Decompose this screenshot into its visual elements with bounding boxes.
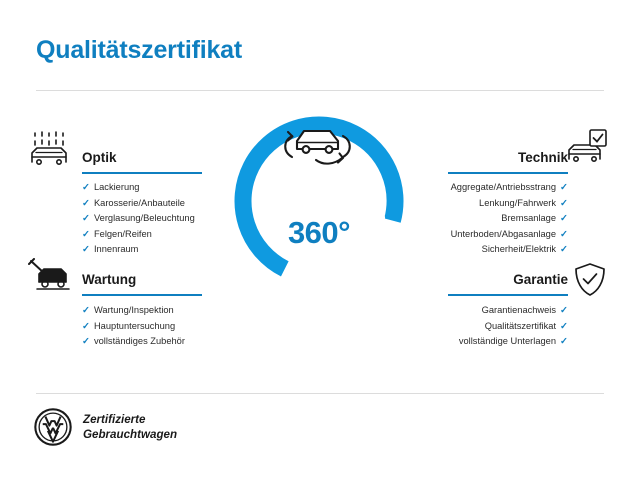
list-item: ✓Felgen/Reifen [82, 227, 195, 243]
check-icon: ✓ [82, 181, 90, 196]
list-item-label: Bremsanlage [501, 211, 556, 226]
list-item: Bremsanlage✓ [451, 211, 568, 227]
check-icon: ✓ [560, 304, 568, 319]
footer-brand-text: Zertifizierte Gebrauchtwagen [83, 412, 177, 442]
section-heading-garantie: Garantie [513, 272, 568, 287]
check-icon: ✓ [82, 228, 90, 243]
list-item-label: Felgen/Reifen [94, 227, 152, 242]
check-icon: ✓ [560, 212, 568, 227]
list-item-label: Verglasung/Beleuchtung [94, 211, 195, 226]
list-item: ✓Verglasung/Beleuchtung [82, 211, 195, 227]
certificate-page: Qualitätszertifikat Optik ✓Lackierung ✓K… [0, 0, 640, 480]
list-item: Aggregate/Antriebsstrang✓ [451, 180, 568, 196]
check-icon: ✓ [82, 304, 90, 319]
section-heading-technik: Technik [518, 150, 568, 165]
section-divider-garantie [448, 294, 568, 296]
check-icon: ✓ [560, 181, 568, 196]
check-icon: ✓ [82, 320, 90, 335]
list-item-label: Wartung/Inspektion [94, 303, 174, 318]
section-divider-technik [448, 172, 568, 174]
check-icon: ✓ [82, 197, 90, 212]
list-item-label: Garantienachweis [482, 303, 556, 318]
car-rotate-icon [280, 118, 358, 181]
list-item: Garantienachweis✓ [459, 303, 568, 319]
list-item-label: vollständiges Zubehör [94, 334, 185, 349]
list-item-label: vollständige Unterlagen [459, 334, 556, 349]
list-item: Sicherheit/Elektrik✓ [451, 242, 568, 258]
section-list-optik: ✓Lackierung ✓Karosserie/Anbauteile ✓Verg… [82, 180, 195, 258]
footer-line-1: Zertifizierte [83, 412, 177, 427]
list-item-label: Lenkung/Fahrwerk [479, 196, 556, 211]
section-heading-wartung: Wartung [82, 272, 136, 287]
title-divider [36, 90, 604, 91]
list-item-label: Sicherheit/Elektrik [482, 242, 556, 257]
check-icon: ✓ [560, 320, 568, 335]
list-item: ✓Karosserie/Anbauteile [82, 196, 195, 212]
check-icon: ✓ [82, 212, 90, 227]
check-badge: Gebrauchtwagen-Check 360° [228, 110, 410, 292]
badge-degrees: 360° [228, 215, 410, 251]
list-item-label: Unterboden/Abgasanlage [451, 227, 556, 242]
list-item: Qualitätszertifikat✓ [459, 319, 568, 335]
section-divider-wartung [82, 294, 202, 296]
list-item-label: Karosserie/Anbauteile [94, 196, 185, 211]
page-title: Qualitätszertifikat [36, 36, 242, 65]
section-list-garantie: Garantienachweis✓ Qualitätszertifikat✓ v… [459, 303, 568, 350]
section-heading-optik: Optik [82, 150, 117, 165]
vw-logo [34, 408, 72, 446]
car-wash-icon [30, 131, 72, 170]
check-icon: ✓ [560, 228, 568, 243]
list-item: ✓vollständiges Zubehör [82, 334, 185, 350]
list-item: Lenkung/Fahrwerk✓ [451, 196, 568, 212]
list-item: vollständige Unterlagen✓ [459, 334, 568, 350]
list-item: ✓Innenraum [82, 242, 195, 258]
list-item-label: Innenraum [94, 242, 138, 257]
shield-check-icon [574, 262, 606, 303]
section-list-wartung: ✓Wartung/Inspektion ✓Hauptuntersuchung ✓… [82, 303, 185, 350]
list-item: ✓Wartung/Inspektion [82, 303, 185, 319]
list-item-label: Hauptuntersuchung [94, 319, 175, 334]
check-icon: ✓ [82, 335, 90, 350]
footer-divider [36, 393, 604, 394]
check-icon: ✓ [560, 335, 568, 350]
footer-brand: Zertifizierte Gebrauchtwagen [34, 408, 177, 446]
footer-line-2: Gebrauchtwagen [83, 427, 177, 442]
list-item-label: Aggregate/Antriebsstrang [451, 180, 556, 195]
check-icon: ✓ [560, 243, 568, 258]
section-divider-optik [82, 172, 202, 174]
list-item-label: Lackierung [94, 180, 139, 195]
car-check-icon [568, 129, 608, 170]
check-icon: ✓ [82, 243, 90, 258]
section-list-technik: Aggregate/Antriebsstrang✓ Lenkung/Fahrwe… [451, 180, 568, 258]
list-item: ✓Hauptuntersuchung [82, 319, 185, 335]
list-item-label: Qualitätszertifikat [485, 319, 556, 334]
car-lift-icon [28, 258, 74, 297]
list-item: ✓Lackierung [82, 180, 195, 196]
list-item: Unterboden/Abgasanlage✓ [451, 227, 568, 243]
check-icon: ✓ [560, 197, 568, 212]
